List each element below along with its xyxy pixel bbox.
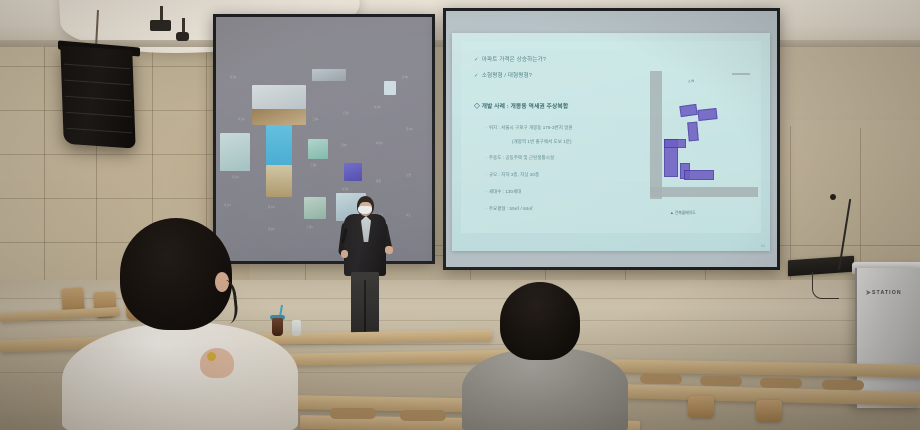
- plan-caption: ▲ 건축물배치도: [670, 211, 696, 216]
- road-marker: [732, 73, 750, 75]
- thumbnail-image: [304, 197, 326, 219]
- slide-check-item: ✓아파트 가격은 상승하는가?: [474, 55, 546, 63]
- slide-page-number: 01: [761, 244, 765, 248]
- thumbnail-image: [312, 69, 346, 81]
- thumbnail-label: 자료2: [238, 117, 245, 121]
- thumbnail-label: 자료6: [268, 227, 275, 231]
- chair-seat: [330, 408, 376, 419]
- check-icon: ✓: [474, 73, 479, 79]
- slide-bullet: · 위치 : 서울시 구로구 개봉동 176-3번지 일원: [486, 125, 573, 131]
- building-block: [684, 170, 714, 180]
- podium[interactable]: [855, 268, 920, 408]
- thumbnail-label: 그림1: [312, 117, 319, 121]
- audience-member-head: [500, 282, 580, 360]
- road-vertical: [650, 71, 662, 199]
- finger-ring: [207, 352, 216, 361]
- audience-member-body: [462, 348, 628, 430]
- slide-bullet: · 규모 : 지하 3층, 지상 20층: [486, 172, 539, 178]
- presenter-left-hand: [341, 250, 348, 258]
- slide-bullet: · 주용도 : 공동주택 및 근린생활시설: [486, 155, 554, 161]
- thumbnail-image: [220, 133, 250, 171]
- slide-bullet: (개봉역 1번 출구에서 도보 1분): [512, 139, 572, 145]
- audience-member-hand: [200, 348, 234, 378]
- presenter-right-hand: [385, 246, 393, 254]
- thumbnail-label: 사진1: [342, 187, 349, 191]
- lecture-hall-photo: 자료1 자료2 자료3 자료4 자료5 자료6 그림1 그림2 그림3 그림4 …: [0, 0, 920, 430]
- thumbnail-label: 자료4: [224, 203, 231, 207]
- thumbnail-label: 사진3: [376, 141, 383, 145]
- thumbnail-label: 도면: [406, 173, 411, 177]
- ceiling-projector-icon: [150, 20, 171, 31]
- building-block: [664, 139, 686, 148]
- road-horizontal: [650, 187, 758, 197]
- thumbnail-label: 사진2: [374, 105, 381, 109]
- left-screen-surface: 자료1 자료2 자료3 자료4 자료5 자료6 그림1 그림2 그림3 그림4 …: [216, 17, 432, 261]
- thumbnail-label: 그림3: [306, 225, 313, 229]
- thumbnail-image: [252, 85, 306, 109]
- thumbnail-label: 지도: [406, 213, 411, 217]
- thumbnail-image: [266, 165, 292, 197]
- diamond-icon: ◇: [474, 104, 482, 110]
- line-array-speaker: [60, 45, 135, 148]
- chair-seat: [822, 380, 864, 391]
- thumbnail-label: 파일: [376, 179, 381, 183]
- chair-back: [756, 400, 782, 422]
- thumbnail-label: 그림2: [310, 163, 317, 167]
- building-block: [687, 122, 699, 142]
- thumbnail-label: 자료3: [232, 175, 239, 179]
- audience-member-body: [62, 322, 298, 430]
- left-projection-screen[interactable]: 자료1 자료2 자료3 자료4 자료5 자료6 그림1 그림2 그림3 그림4 …: [213, 14, 435, 264]
- slide-check-item: ✓소형평형 / 대형평형?: [474, 71, 532, 79]
- water-bottle: [292, 320, 301, 336]
- thumbnail-image: [384, 81, 396, 95]
- drink-cup: [272, 318, 283, 336]
- slide-bullet: · 주요평형 : 59㎡ / 84㎡: [486, 206, 533, 212]
- microphone-capsule-icon: [830, 194, 836, 200]
- thumbnail-image: [344, 163, 362, 181]
- chair-seat: [400, 410, 446, 421]
- thumbnail-image: [266, 125, 292, 165]
- slide-bullet: · 세대수 : 130세대: [486, 189, 521, 195]
- thumbnail-label: 문서2: [406, 127, 413, 131]
- presenter-leg-divider: [364, 280, 366, 334]
- chair-seat: [700, 376, 742, 387]
- thumbnail-image: [252, 109, 306, 125]
- thumbnail-image: [308, 139, 328, 159]
- presenter-face-mask: [358, 206, 372, 214]
- ceiling-camera-icon: [176, 32, 189, 41]
- site-plan-diagram: △ N ▲ 건축물배치도: [636, 67, 762, 217]
- right-screen-surface: 01아파트 시장의 개발동향 ✓아파트 가격은 상승하는가? ✓소형평형 / 대…: [446, 11, 777, 267]
- thumbnail-label: 그림4: [342, 111, 349, 115]
- right-projection-screen[interactable]: 01아파트 시장의 개발동향 ✓아파트 가격은 상승하는가? ✓소형평형 / 대…: [443, 8, 780, 270]
- check-icon: ✓: [474, 57, 479, 63]
- chair-back: [688, 396, 714, 418]
- building-block: [697, 108, 717, 121]
- thumbnail-label: 그림5: [340, 143, 347, 147]
- thumbnail-label: 자료1: [230, 75, 237, 79]
- slide-section-heading: ◇ 개발 사례 : 개봉동 역세권 주상복합: [474, 101, 568, 110]
- podium-brand-label: STATION: [872, 290, 902, 296]
- building-block: [679, 104, 697, 117]
- chair-seat: [760, 378, 802, 389]
- thumbnail-label: 자료5: [268, 205, 275, 209]
- chair-seat: [640, 374, 682, 385]
- slide-body: ✓아파트 가격은 상승하는가? ✓소형평형 / 대형평형? ◇ 개발 사례 : …: [452, 33, 770, 251]
- thumbnail-label: 문서1: [402, 75, 409, 79]
- podium-cable: [812, 272, 839, 299]
- plan-north-arrow: △ N: [688, 79, 694, 83]
